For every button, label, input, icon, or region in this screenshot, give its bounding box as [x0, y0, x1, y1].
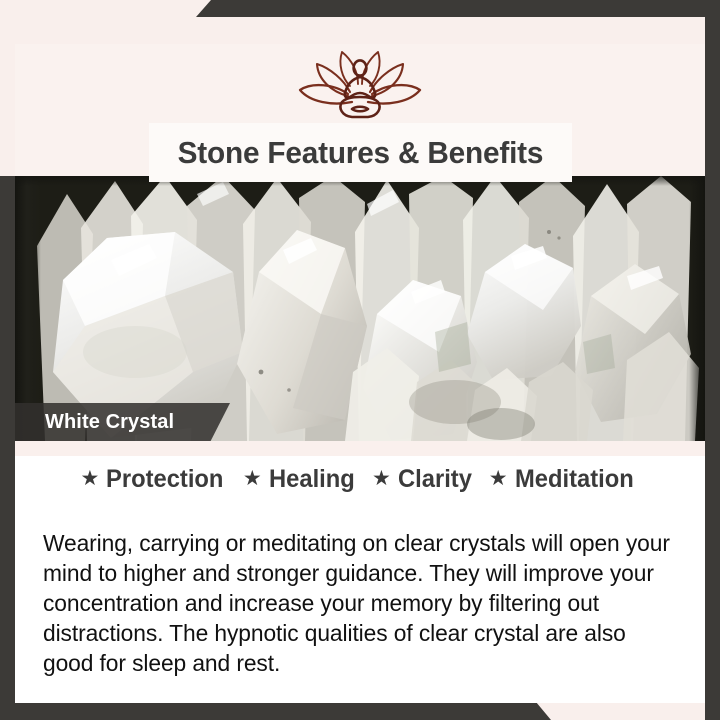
feature-item-healing: ★ Healing	[243, 465, 359, 494]
product-photo	[15, 176, 705, 441]
description-text: Wearing, carrying or meditating on clear…	[43, 528, 675, 678]
photo-vignette-right	[689, 176, 705, 441]
feature-label: Meditation	[515, 465, 634, 494]
feature-item-protection: ★ Protection	[80, 465, 229, 494]
photo-caption-chip: White Crystal	[15, 403, 230, 441]
lotus-meditating-figure-icon	[284, 46, 436, 124]
frame-accent-right	[705, 0, 720, 720]
star-icon: ★	[489, 468, 508, 489]
feature-item-clarity: ★ Clarity	[372, 465, 476, 494]
star-icon: ★	[243, 468, 262, 489]
photo-vignette-left	[15, 176, 41, 441]
photo-caption-label: White Crystal	[15, 411, 174, 434]
feature-label: Clarity	[398, 465, 472, 494]
feature-label: Healing	[269, 465, 355, 494]
star-icon: ★	[80, 468, 99, 489]
page-title: Stone Features & Benefits	[178, 135, 544, 171]
infographic-card: BUDDHA STONES Stone Features & Benefits	[0, 0, 720, 720]
star-icon: ★	[372, 468, 391, 489]
feature-item-meditation: ★ Meditation	[489, 465, 640, 494]
page-title-panel: Stone Features & Benefits	[149, 123, 572, 182]
feature-label: Protection	[106, 465, 223, 494]
feature-list: ★ Protection ★ Healing ★ Clarity ★ Medit…	[15, 465, 705, 494]
frame-accent-left	[0, 176, 15, 703]
description-panel: ★ Protection ★ Healing ★ Clarity ★ Medit…	[15, 456, 705, 703]
section-separator	[15, 441, 705, 456]
